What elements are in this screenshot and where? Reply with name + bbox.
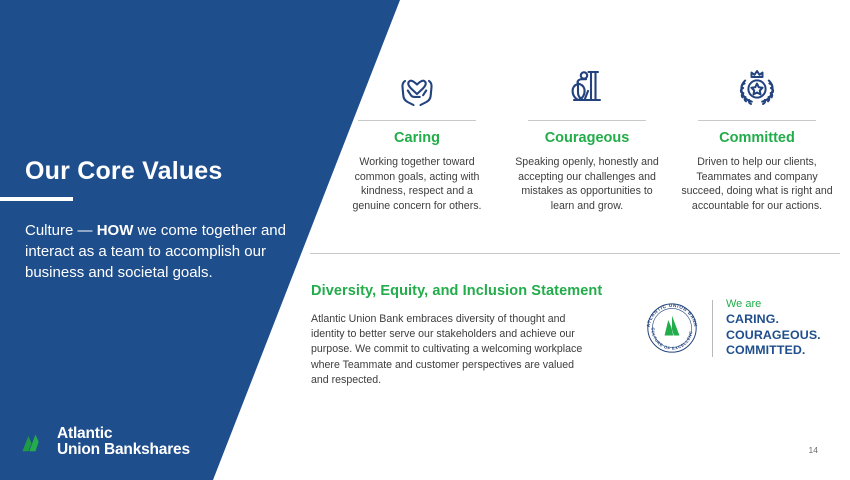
value-description-committed: Driven to help our clients, Teammates an… <box>681 155 833 213</box>
mountain-logo-icon <box>665 316 680 336</box>
seal-vertical-rule <box>712 300 713 357</box>
tagline-caring: CARING. <box>726 312 821 328</box>
laurel-wreath-crown-star-icon <box>732 62 782 110</box>
value-heading-caring: Caring <box>394 130 440 146</box>
value-heading-courageous: Courageous <box>545 130 630 146</box>
page-number: 14 <box>809 445 818 455</box>
mountain-logo-icon <box>22 429 49 456</box>
value-description-courageous: Speaking openly, honestly and accepting … <box>511 155 663 213</box>
subtitle-emphasis: HOW <box>97 222 134 239</box>
footer-brand-logo: Atlantic Union Bankshares <box>22 426 190 458</box>
value-divider-committed <box>698 120 816 121</box>
tagline-courageous: COURAGEOUS. <box>726 328 821 344</box>
value-column-caring: Caring Working together toward common go… <box>332 62 502 213</box>
culture-seal-area: ATLANTIC UNION BANK CULTURE OF EXCELLENC… <box>641 297 821 359</box>
slide-canvas: Our Core Values Culture — HOW we come to… <box>0 0 850 480</box>
subtitle-pre: Culture — <box>25 222 97 239</box>
section-divider <box>310 253 840 254</box>
tagline-values: CARING. COURAGEOUS. COMMITTED. <box>726 312 821 359</box>
slide-subtitle: Culture — HOW we come together and inter… <box>25 220 287 283</box>
page-title: Our Core Values <box>25 157 223 186</box>
value-description-caring: Working together toward common goals, ac… <box>341 155 493 213</box>
dei-body-text: Atlantic Union Bank embraces diversity o… <box>311 312 593 388</box>
hands-holding-heart-icon <box>394 62 440 110</box>
footer-brand-line2: Union Bankshares <box>57 442 190 458</box>
dei-heading: Diversity, Equity, and Inclusion Stateme… <box>311 283 611 299</box>
dei-statement-block: Diversity, Equity, and Inclusion Stateme… <box>311 283 611 388</box>
value-divider-caring <box>358 120 476 121</box>
tagline-we-are: We are <box>726 297 821 311</box>
culture-tagline: We are CARING. COURAGEOUS. COMMITTED. <box>726 297 821 359</box>
core-values-row: Caring Working together toward common go… <box>332 62 842 213</box>
value-heading-committed: Committed <box>719 130 795 146</box>
title-underline-rule <box>0 197 73 201</box>
value-column-courageous: Courageous Speaking openly, honestly and… <box>502 62 672 213</box>
culture-of-excellence-seal-icon: ATLANTIC UNION BANK CULTURE OF EXCELLENC… <box>641 297 703 359</box>
footer-brand-text: Atlantic Union Bankshares <box>57 426 190 458</box>
tagline-committed: COMMITTED. <box>726 343 821 359</box>
left-content-region: Our Core Values Culture — HOW we come to… <box>25 0 325 480</box>
footer-brand-line1: Atlantic <box>57 426 190 442</box>
knight-shield-banner-icon <box>564 62 610 110</box>
value-column-committed: Committed Driven to help our clients, Te… <box>672 62 842 213</box>
value-divider-courageous <box>528 120 646 121</box>
